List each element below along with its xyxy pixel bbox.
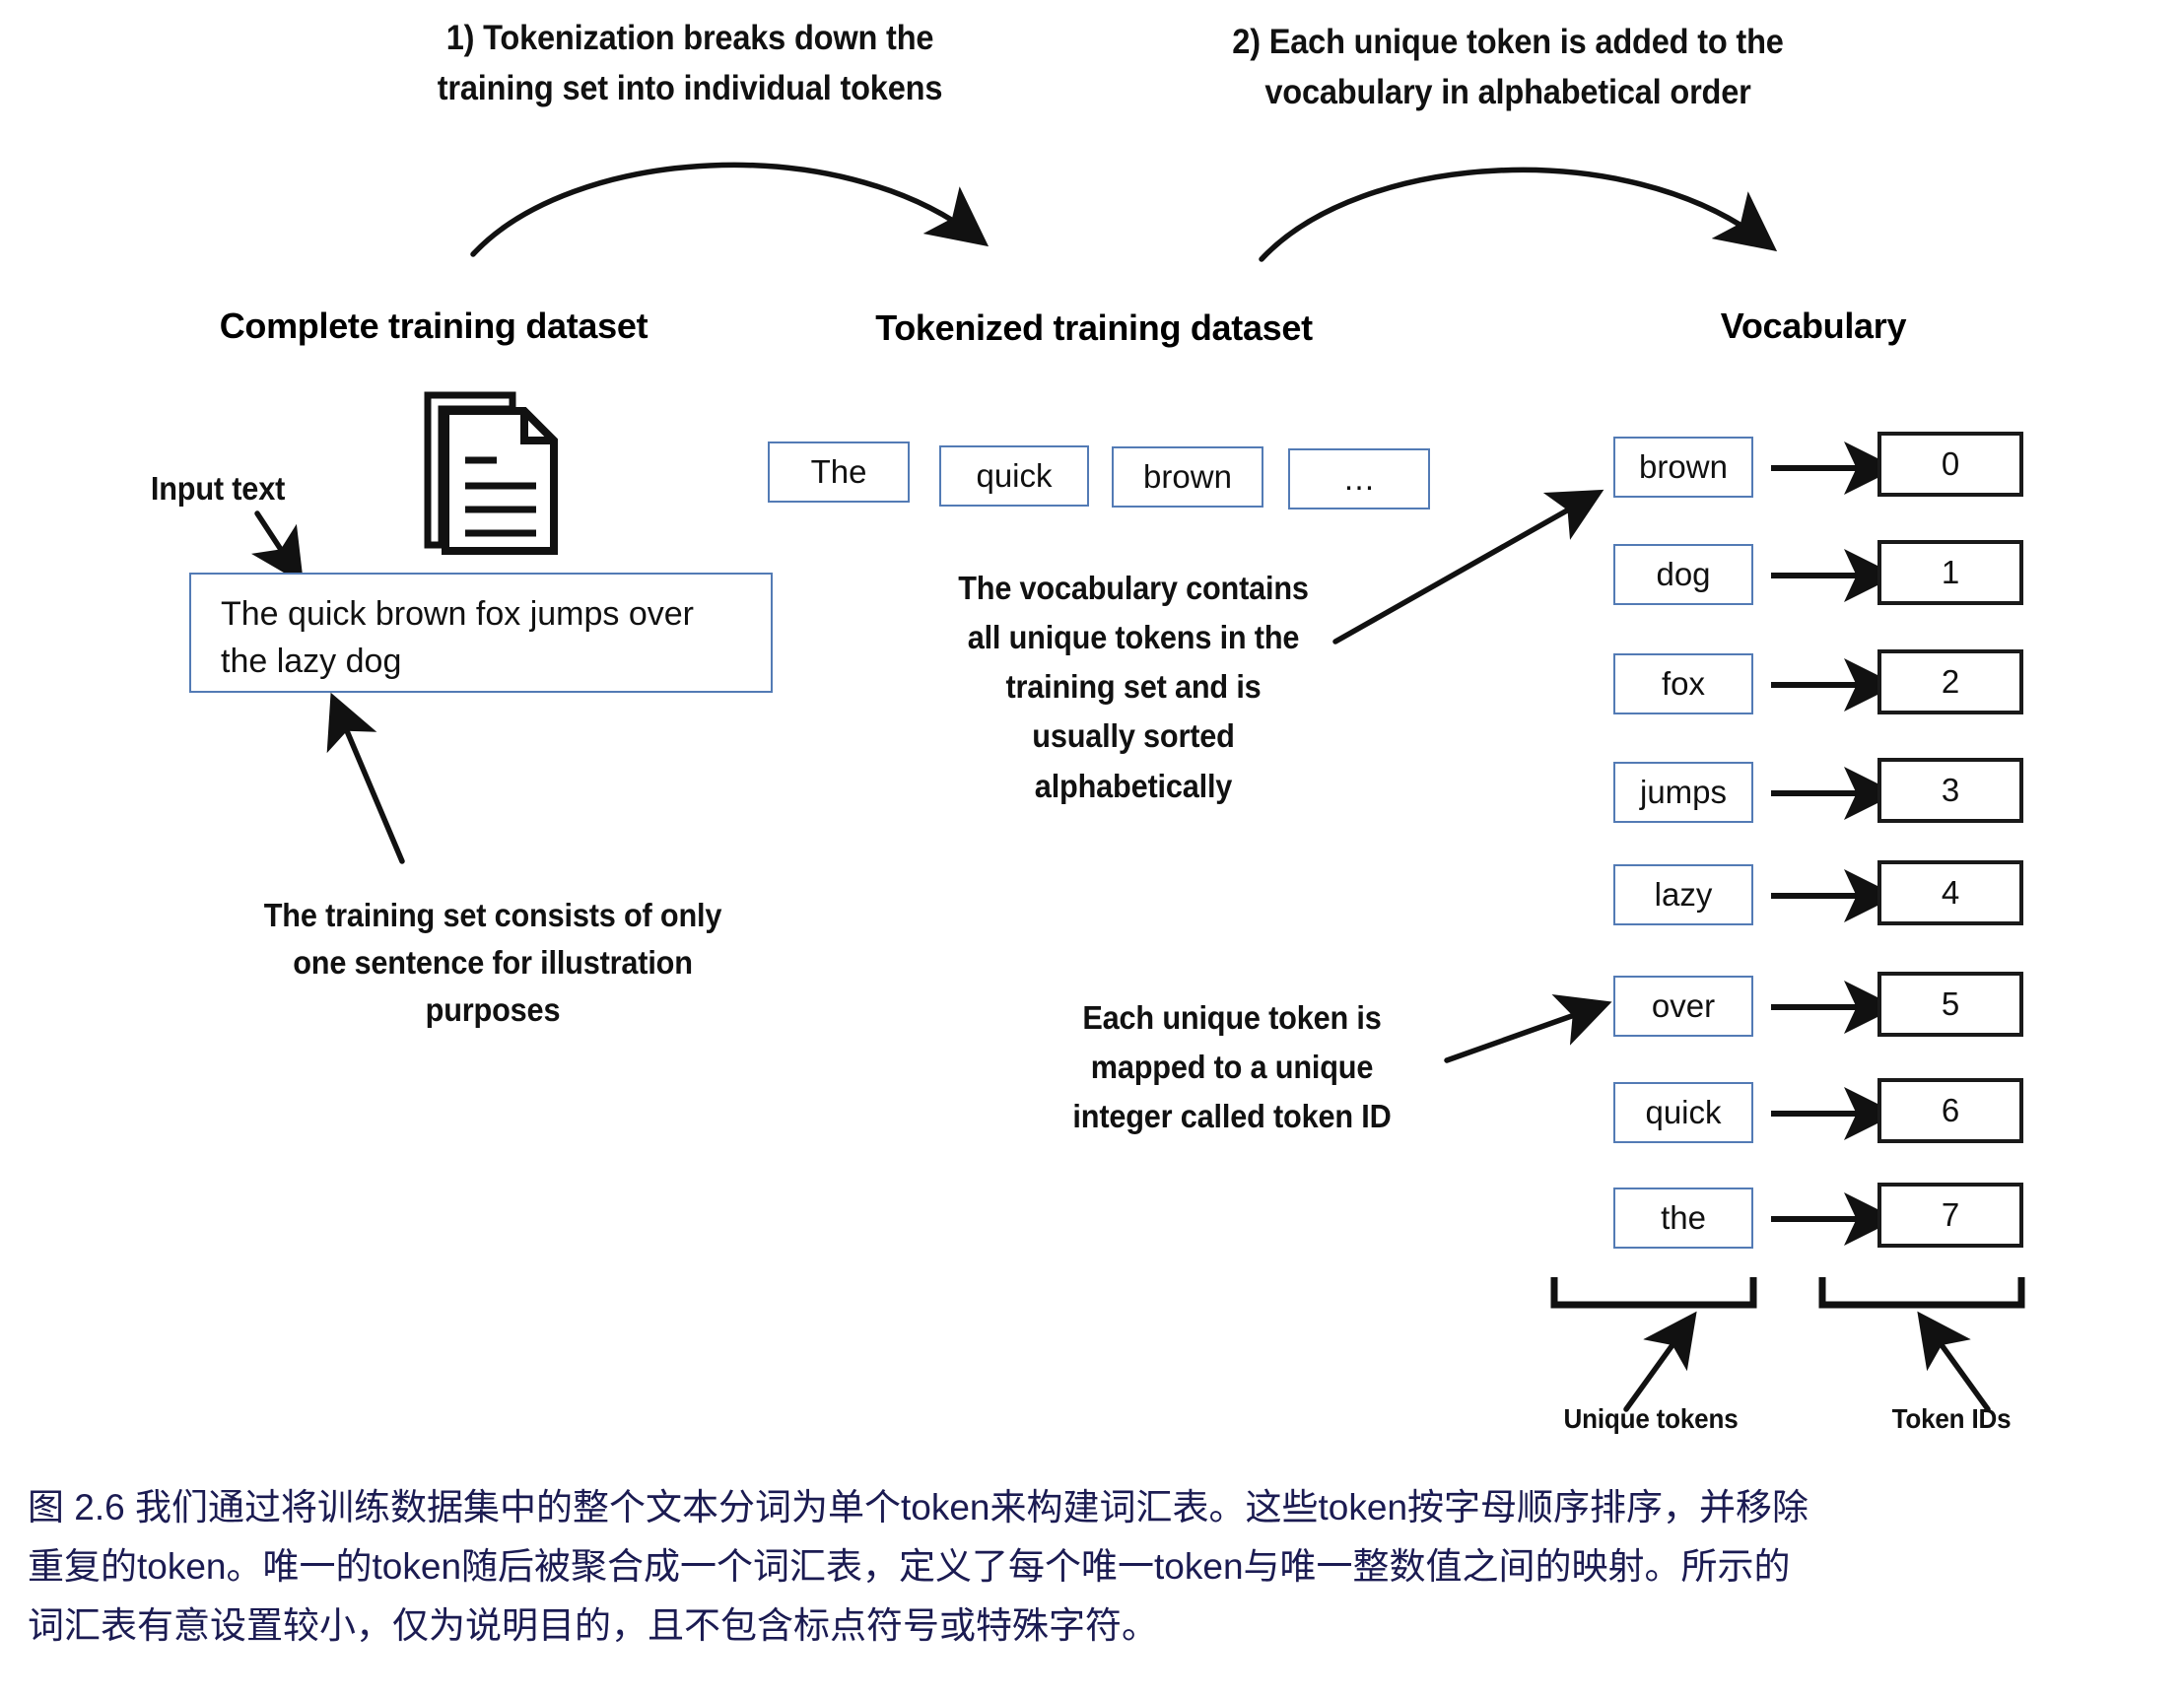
token-box-0[interactable]: The: [768, 441, 910, 503]
vocab-token-6[interactable]: quick: [1613, 1082, 1753, 1143]
step-1-label: 1) Tokenization breaks down the training…: [396, 14, 983, 114]
vocab-id-2-label: 2: [1942, 663, 1959, 701]
vocab-id-6-label: 6: [1942, 1092, 1959, 1129]
token-box-1-label: quick: [976, 457, 1052, 495]
vocab-id-0: 0: [1877, 432, 2023, 497]
vocab-id-7-label: 7: [1942, 1196, 1959, 1234]
vocab-token-7-label: the: [1661, 1199, 1706, 1237]
bracket-label-unique-tokens: Unique tokens: [1490, 1399, 1811, 1440]
middle-title-text: Tokenized training dataset: [875, 307, 1313, 348]
training-set-note-text: The training set consists of only one se…: [264, 897, 722, 1028]
vocab-token-2[interactable]: fox: [1613, 653, 1753, 714]
vocab-token-4[interactable]: lazy: [1613, 864, 1753, 925]
vocab-token-3-label: jumps: [1640, 774, 1727, 811]
token-box-0-label: The: [811, 453, 867, 491]
arrow-note-to-input-box: [325, 696, 434, 868]
vocab-id-5-label: 5: [1942, 985, 1959, 1023]
token-id-note-text: Each unique token is mapped to a unique …: [1072, 999, 1391, 1134]
vocab-token-7[interactable]: the: [1613, 1188, 1753, 1249]
vocab-token-6-label: quick: [1645, 1094, 1721, 1131]
vocab-id-5: 5: [1877, 972, 2023, 1037]
bracket-unique-tokens: [1550, 1273, 1757, 1313]
vocab-id-4: 4: [1877, 860, 2023, 925]
caption-line-3: 词汇表有意设置较小，仅为说明目的，且不包含标点符号或特殊字符。: [28, 1596, 2156, 1656]
left-title-text: Complete training dataset: [220, 305, 648, 346]
vocab-id-7: 7: [1877, 1183, 2023, 1248]
input-text-value: The quick brown fox jumps over the lazy …: [221, 595, 694, 680]
vocab-token-3[interactable]: jumps: [1613, 762, 1753, 823]
vocab-token-5-label: over: [1652, 987, 1715, 1025]
token-id-note: Each unique token is mapped to a unique …: [1054, 993, 1411, 1141]
input-text-label: Input text: [131, 465, 306, 512]
vocab-id-2: 2: [1877, 649, 2023, 714]
vocab-id-4-label: 4: [1942, 874, 1959, 912]
bracket-label-token-ids-text: Token IDs: [1892, 1403, 2012, 1434]
token-box-2[interactable]: brown: [1112, 446, 1263, 508]
vocab-token-2-label: fox: [1662, 665, 1705, 703]
right-title-text: Vocabulary: [1721, 305, 1906, 346]
stacked-document-icon: [422, 389, 565, 557]
section-title-tokenized-dataset: Tokenized training dataset: [798, 307, 1390, 349]
vocab-token-0[interactable]: brown: [1613, 437, 1753, 498]
input-text-label-text: Input text: [151, 470, 285, 507]
step-2-text: 2) Each unique token is added to the voc…: [1232, 23, 1783, 111]
bracket-token-ids: [1818, 1273, 2025, 1313]
training-set-note: The training set consists of only one se…: [245, 892, 740, 1034]
vocab-id-1: 1: [1877, 540, 2023, 605]
vocabulary-note: The vocabulary contains all unique token…: [955, 564, 1313, 811]
vocab-id-3-label: 3: [1942, 772, 1959, 809]
caption-line-2: 重复的token。唯一的token随后被聚合成一个词汇表，定义了每个唯一toke…: [28, 1537, 2156, 1596]
bracket-label-token-ids: Token IDs: [1814, 1399, 2089, 1440]
curved-arrow-vocabulary: [1252, 143, 1863, 271]
arrow-vocab-note-to-brown: [1326, 478, 1621, 650]
vocab-token-1-label: dog: [1656, 556, 1710, 593]
vocab-token-0-label: brown: [1639, 448, 1728, 486]
step-2-label: 2) Each unique token is added to the voc…: [1214, 18, 1801, 118]
section-title-complete-dataset: Complete training dataset: [138, 305, 729, 347]
token-box-2-label: brown: [1143, 458, 1232, 496]
step-1-text: 1) Tokenization breaks down the training…: [438, 19, 943, 107]
vocabulary-note-text: The vocabulary contains all unique token…: [958, 570, 1309, 804]
section-title-vocabulary: Vocabulary: [1537, 305, 2089, 347]
input-text-box[interactable]: The quick brown fox jumps over the lazy …: [189, 573, 773, 693]
vocab-token-5[interactable]: over: [1613, 976, 1753, 1037]
vocab-id-1-label: 1: [1942, 554, 1959, 591]
caption-line-1: 图 2.6 我们通过将训练数据集中的整个文本分词为单个token来构建词汇表。这…: [28, 1478, 2156, 1537]
bracket-label-unique-tokens-text: Unique tokens: [1564, 1403, 1739, 1434]
token-box-1[interactable]: quick: [939, 445, 1089, 507]
vocab-id-6: 6: [1877, 1078, 2023, 1143]
vocab-token-1[interactable]: dog: [1613, 544, 1753, 605]
vocab-id-0-label: 0: [1942, 445, 1959, 483]
vocab-id-3: 3: [1877, 758, 2023, 823]
figure-caption: 图 2.6 我们通过将训练数据集中的整个文本分词为单个token来构建词汇表。这…: [28, 1478, 2156, 1656]
curved-arrow-tokenization: [463, 138, 1074, 266]
arrow-token-id-note-to-over: [1439, 995, 1626, 1069]
vocab-token-4-label: lazy: [1655, 876, 1713, 914]
